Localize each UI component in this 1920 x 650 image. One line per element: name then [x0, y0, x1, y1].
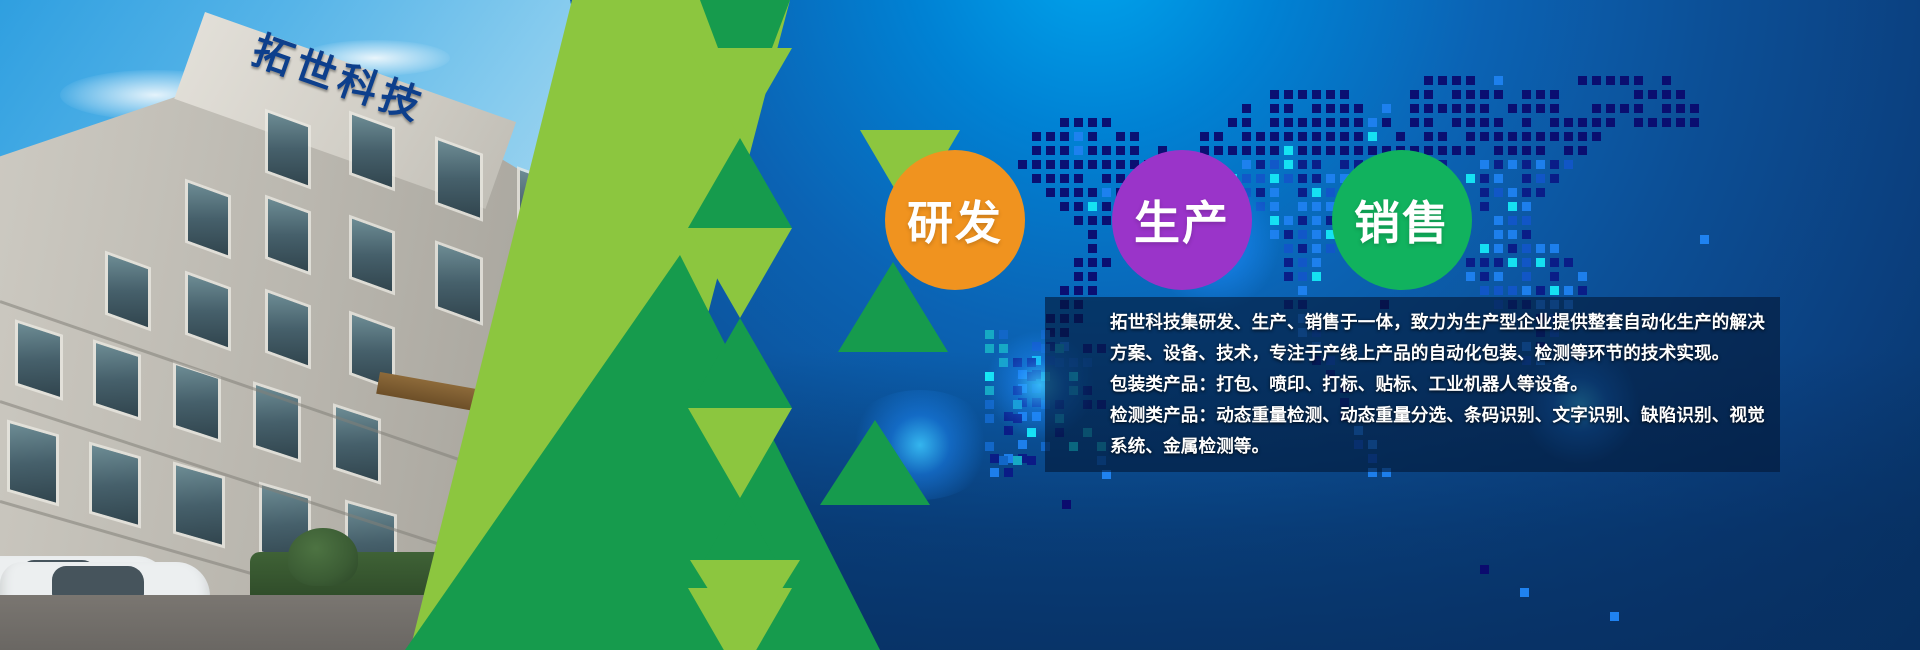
badge-circle-rd[interactable]: 研发 [885, 150, 1025, 290]
description-line-1: 拓世科技集研发、生产、销售于一体，致力为生产型企业提供整套自动化生产的解决 [1110, 308, 1790, 339]
description-line-2: 方案、设备、技术，专注于产线上产品的自动化包装、检测等环节的技术实现。 [1110, 339, 1790, 370]
badge-circle-sales[interactable]: 销售 [1332, 150, 1472, 290]
description-line-4: 检测类产品：动态重量检测、动态重量分选、条码识别、文字识别、缺陷识别、视觉 [1110, 401, 1790, 432]
description-line-3: 包装类产品：打包、喷印、打标、贴标、工业机器人等设备。 [1110, 370, 1790, 401]
badge-circle-production[interactable]: 生产 [1112, 150, 1252, 290]
hero-banner: 拓世科技 [0, 0, 1920, 650]
description-line-5: 系统、金属检测等。 [1110, 432, 1790, 463]
description-text-block: 拓世科技集研发、生产、销售于一体，致力为生产型企业提供整套自动化生产的解决 方案… [1110, 308, 1790, 463]
